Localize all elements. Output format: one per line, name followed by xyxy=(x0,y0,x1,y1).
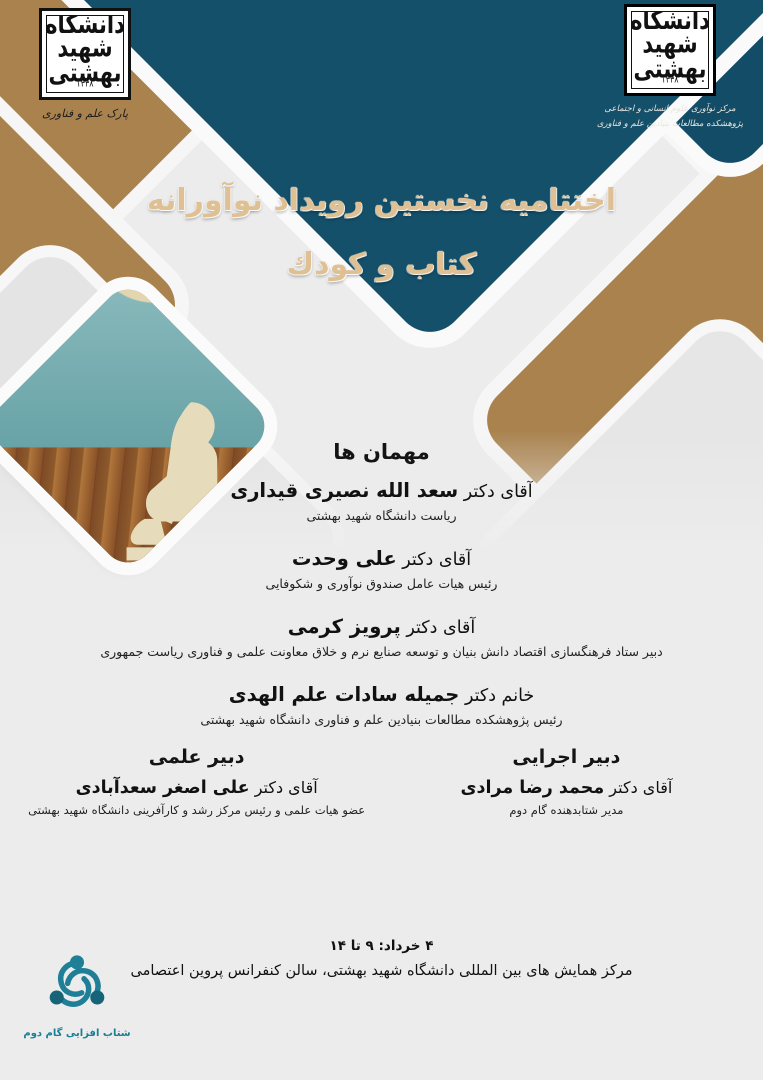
logo-science-park: دانشگاه شهید بهشتی ۱۳۳۸ پارک علم و فناور… xyxy=(20,8,150,122)
crest-calligraphy-right: دانشگاه شهید بهشتی xyxy=(631,11,709,81)
guest-item: آقای دکتر سعد الله نصیری قیداری ریاست دا… xyxy=(0,478,763,524)
executive-secretary-name-line: آقای دکتر محمد رضا مرادی xyxy=(396,777,737,801)
guest-name-line: آقای دکتر پرویز کرمی xyxy=(0,614,763,641)
guest-prefix: آقای دکتر xyxy=(397,550,471,570)
logo-left-caption: پارک علم و فناوری xyxy=(20,107,150,122)
scientific-secretary-block: دبیر علمی آقای دکتر علی اصغر سعدآبادی عض… xyxy=(26,746,367,819)
scientific-secretary-role: عضو هیات علمی و رئیس مرکز رشد و کارآفرین… xyxy=(26,802,367,818)
guest-role: رئیس پژوهشکده مطالعات بنیادین علم و فناو… xyxy=(0,711,763,729)
title-line-1: اختتامیه نخستین رویداد نوآورانه xyxy=(0,182,763,220)
crest-calligraphy: دانشگاه شهید بهشتی xyxy=(46,15,124,85)
accelerator-logo: شتاب افزایی گام دوم xyxy=(22,946,132,1039)
guest-prefix: خانم دکتر xyxy=(459,686,534,706)
guests-list: آقای دکتر سعد الله نصیری قیداری ریاست دا… xyxy=(0,478,763,729)
scientific-secretary-name: علی اصغر سعدآبادی xyxy=(76,778,250,798)
guest-name: علی وحدت xyxy=(292,547,397,570)
guest-item: خانم دکتر جمیله سادات علم الهدی رئیس پژو… xyxy=(0,682,763,728)
guest-item: آقای دکتر علی وحدت رئیس هیات عامل صندوق … xyxy=(0,546,763,592)
guest-role: رئیس هیات عامل صندوق نوآوری و شکوفایی xyxy=(0,575,763,593)
executive-secretary-heading: دبیر اجرایی xyxy=(396,746,737,768)
event-poster: دانشگاه شهید بهشتی ۱۳۳۸ پارک علم و فناور… xyxy=(0,0,763,1080)
poster-title: اختتامیه نخستین رویداد نوآورانه کتاب و ک… xyxy=(0,182,763,283)
guest-name: جمیله سادات علم الهدی xyxy=(229,683,460,706)
executive-prefix: آقای دکتر xyxy=(604,778,672,797)
guest-prefix: آقای دکتر xyxy=(401,618,475,638)
university-crest-icon: دانشگاه شهید بهشتی ۱۳۳۸ xyxy=(39,8,131,100)
crest-inner-right: دانشگاه شهید بهشتی ۱۳۳۸ xyxy=(631,11,709,89)
guest-name: پرویز کرمی xyxy=(288,615,401,638)
guest-name-line: آقای دکتر علی وحدت xyxy=(0,546,763,573)
guests-heading: مهمان ها xyxy=(0,440,763,464)
scientific-secretary-heading: دبیر علمی xyxy=(26,746,367,768)
guest-item: آقای دکتر پرویز کرمی دبیر ستاد فرهنگسازی… xyxy=(0,614,763,660)
poster-content: مهمان ها آقای دکتر سعد الله نصیری قیداری… xyxy=(0,440,763,818)
secretaries-row: دبیر اجرایی آقای دکتر محمد رضا مرادی مدی… xyxy=(0,746,763,819)
university-crest-icon-right: دانشگاه شهید بهشتی ۱۳۳۸ xyxy=(624,4,716,96)
executive-secretary-name: محمد رضا مرادی xyxy=(460,778,604,798)
triskelion-people-icon xyxy=(38,946,116,1024)
logo-right-caption-line2: پژوهشکده مطالعات بنیادین علم و فناوری xyxy=(595,118,745,131)
logo-right-caption-line1: مرکز نوآوری علوم انسانی و اجتماعی xyxy=(595,103,745,116)
guest-role: دبیر ستاد فرهنگسازی اقتصاد دانش بنیان و … xyxy=(0,643,763,661)
crest-inner: دانشگاه شهید بهشتی ۱۳۳۸ xyxy=(46,15,124,93)
guest-name-line: خانم دکتر جمیله سادات علم الهدی xyxy=(0,682,763,709)
triskelion-head-right xyxy=(90,990,104,1004)
scientific-prefix: آقای دکتر xyxy=(250,778,318,797)
guest-role: ریاست دانشگاه شهید بهشتی xyxy=(0,507,763,525)
executive-secretary-block: دبیر اجرایی آقای دکتر محمد رضا مرادی مدی… xyxy=(396,746,737,819)
triskelion-head-left xyxy=(50,990,64,1004)
executive-secretary-role: مدیر شتابدهنده گام دوم xyxy=(396,802,737,818)
triskelion-head-top xyxy=(70,955,84,969)
accelerator-caption: شتاب افزایی گام دوم xyxy=(22,1028,132,1039)
guest-name: سعد الله نصیری قیداری xyxy=(230,479,458,502)
guest-name-line: آقای دکتر سعد الله نصیری قیداری xyxy=(0,478,763,505)
scientific-secretary-name-line: آقای دکتر علی اصغر سعدآبادی xyxy=(26,777,367,801)
crest-year-right: ۱۳۳۸ xyxy=(661,75,678,85)
guest-prefix: آقای دکتر xyxy=(458,482,532,502)
logo-innovation-center: دانشگاه شهید بهشتی ۱۳۳۸ مرکز نوآوری علوم… xyxy=(595,4,745,131)
crest-year: ۱۳۳۸ xyxy=(76,79,93,89)
title-line-2: کتاب و کودك xyxy=(0,246,763,284)
